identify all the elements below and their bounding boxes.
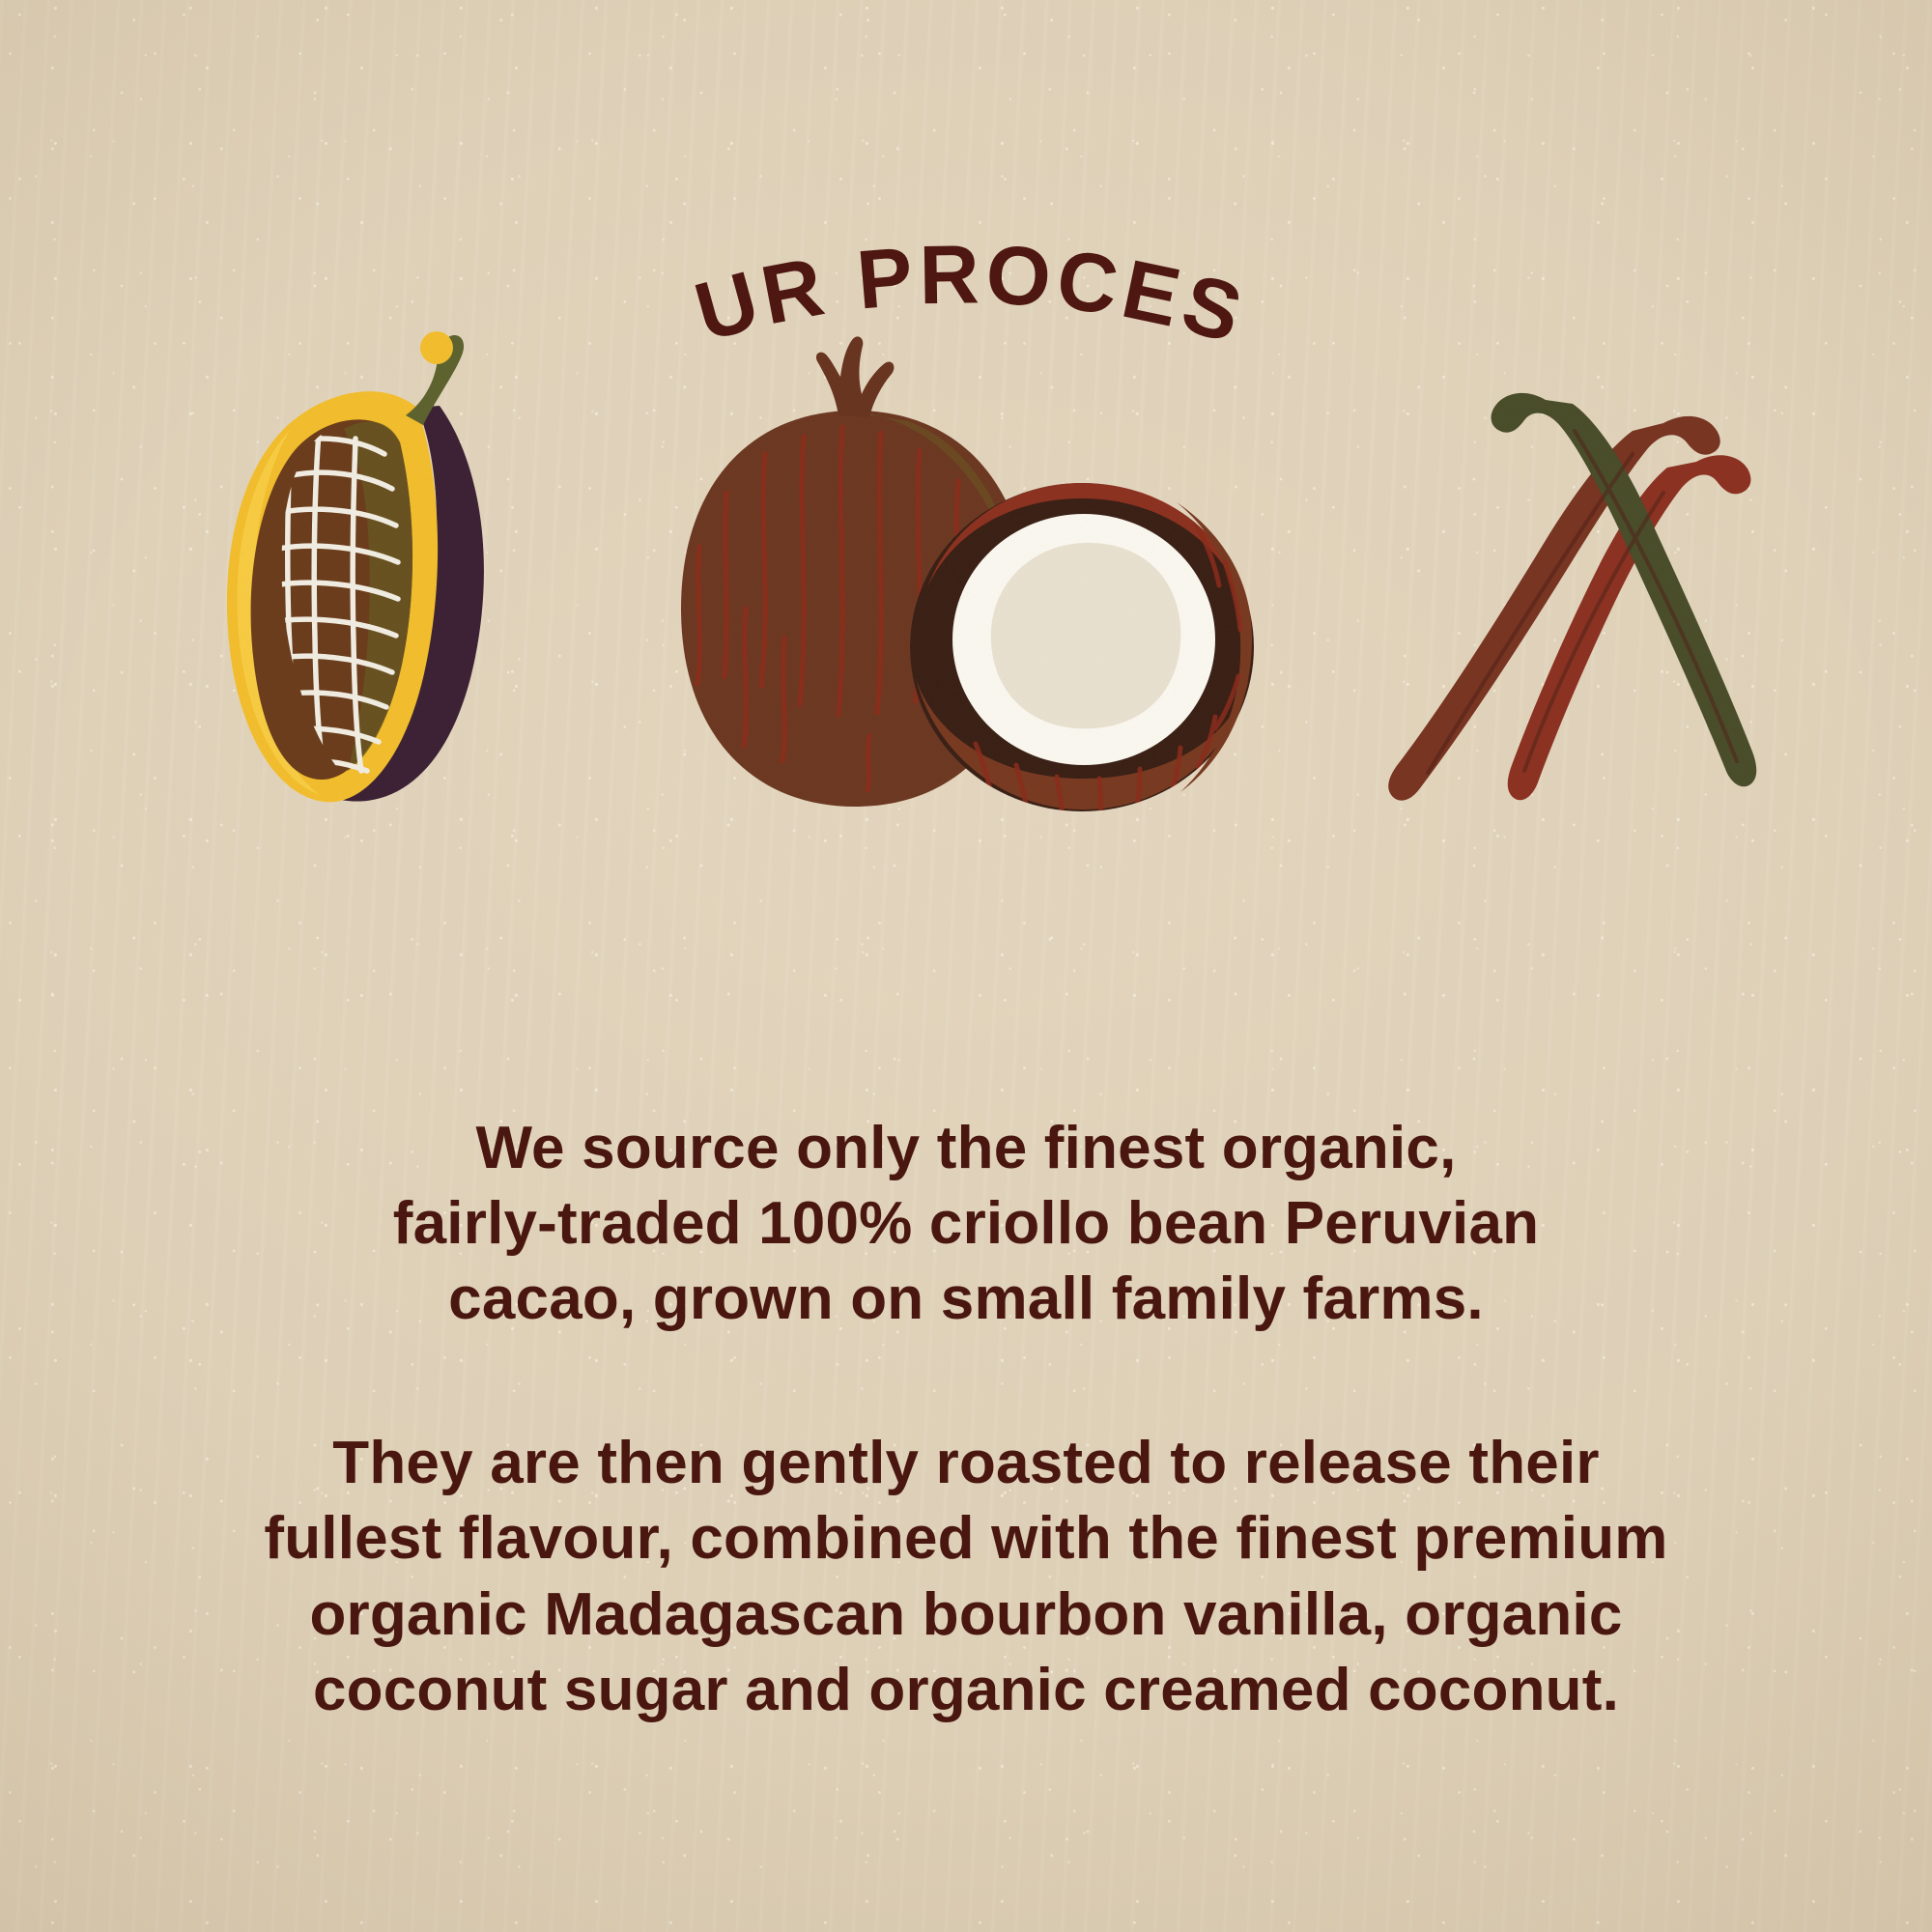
cacao-pod-stem-tip <box>420 331 453 364</box>
paragraph-roasting: They are then gently roasted to release … <box>251 1426 1681 1727</box>
coconut-half-icon <box>910 483 1254 825</box>
ingredient-illustration-svg <box>0 319 1932 889</box>
coconut-whole-tuft <box>816 336 895 417</box>
body-copy: We source only the finest organic, fairl… <box>0 1111 1932 1728</box>
paragraph-roasting-line-4: coconut sugar and organic creamed coconu… <box>251 1653 1681 1728</box>
paragraph-sourcing: We source only the finest organic, fairl… <box>251 1111 1681 1337</box>
cacao-pod-icon <box>227 331 484 802</box>
vanilla-pods-icon <box>1388 393 1756 801</box>
paragraph-sourcing-line-3: cacao, grown on small family farms. <box>251 1262 1681 1337</box>
paragraph-sourcing-line-1: We source only the finest organic, <box>251 1111 1681 1186</box>
paragraph-roasting-line-3: organic Madagascan bourbon vanilla, orga… <box>251 1577 1681 1653</box>
paragraph-sourcing-line-2: fairly-traded 100% criollo bean Peruvian <box>251 1186 1681 1262</box>
coconut-half-flesh-inner <box>991 543 1181 728</box>
paragraph-roasting-line-2: fullest flavour, combined with the fines… <box>251 1501 1681 1577</box>
process-panel: OUR PROCESS <box>0 0 1932 1932</box>
ingredient-illustration <box>0 319 1932 889</box>
paragraph-roasting-line-1: They are then gently roasted to release … <box>251 1426 1681 1501</box>
